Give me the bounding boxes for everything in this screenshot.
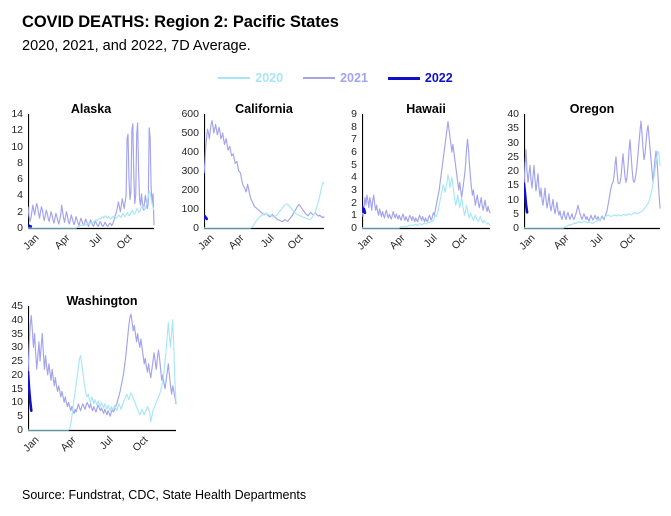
- y-tick-label: 20: [498, 165, 519, 177]
- legend-swatch-2021: [303, 77, 335, 79]
- x-tick-label: Jul: [74, 232, 104, 262]
- y-tick-label: 6: [340, 146, 357, 158]
- y-tick-label: 400: [172, 146, 199, 158]
- plot-area: [362, 114, 492, 230]
- page-subtitle: 2020, 2021, and 2022, 7D Average.: [22, 38, 251, 54]
- y-tick-label: 7: [340, 133, 357, 145]
- y-tick-label: 5: [498, 208, 519, 220]
- y-tick-label: 200: [172, 184, 199, 196]
- x-tick-label: Apr: [43, 232, 73, 262]
- x-tick-label: Jul: [576, 232, 606, 262]
- chart-page: COVID DEATHS: Region 2: Pacific States 2…: [0, 0, 671, 516]
- y-tick-label: 0: [340, 222, 357, 234]
- y-tick-label: 500: [172, 127, 199, 139]
- y-tick-label: 4: [2, 189, 23, 201]
- y-tick-label: 0: [2, 424, 23, 436]
- series-line-2022: [204, 216, 207, 219]
- y-tick-label: 35: [2, 328, 23, 340]
- series-line-2021: [28, 123, 154, 226]
- x-tick-label: Jan: [187, 232, 217, 262]
- y-tick-label: 600: [172, 108, 199, 120]
- y-tick-label: 4: [340, 171, 357, 183]
- x-tick-label: Apr: [49, 434, 79, 464]
- y-tick-label: 30: [2, 341, 23, 353]
- y-tick-label: 3: [340, 184, 357, 196]
- y-tick-label: 10: [2, 141, 23, 153]
- x-tick-label: Apr: [377, 232, 407, 262]
- legend-swatch-2022: [388, 77, 420, 80]
- y-tick-label: 45: [2, 300, 23, 312]
- y-tick-label: 14: [2, 108, 23, 120]
- x-tick-label: Oct: [608, 232, 638, 262]
- y-tick-label: 0: [498, 222, 519, 234]
- x-tick-label: Apr: [217, 232, 247, 262]
- y-tick-label: 20: [2, 369, 23, 381]
- y-tick-label: 1: [340, 209, 357, 221]
- y-tick-label: 10: [2, 396, 23, 408]
- chart-panel-california: California0100200300400500600JanAprJulOc…: [172, 100, 332, 250]
- y-tick-label: 8: [340, 121, 357, 133]
- y-tick-label: 300: [172, 165, 199, 177]
- y-tick-label: 15: [2, 383, 23, 395]
- plot-area: [28, 114, 156, 230]
- y-tick-label: 25: [2, 355, 23, 367]
- x-tick-label: Oct: [105, 232, 135, 262]
- x-tick-label: Oct: [121, 434, 151, 464]
- y-tick-label: 10: [498, 194, 519, 206]
- legend: 202020212022: [0, 72, 671, 85]
- legend-item-2021: 2021: [303, 72, 368, 85]
- y-tick-label: 30: [498, 137, 519, 149]
- y-tick-label: 15: [498, 179, 519, 191]
- x-tick-label: Jan: [12, 434, 42, 464]
- x-tick-label: Oct: [440, 232, 470, 262]
- plot-area: [28, 306, 178, 432]
- y-tick-label: 6: [2, 173, 23, 185]
- series-line-2022: [28, 226, 31, 227]
- y-tick-label: 100: [172, 203, 199, 215]
- y-tick-label: 35: [498, 122, 519, 134]
- x-tick-label: Jul: [86, 434, 116, 464]
- chart-panel-oregon: Oregon0510152025303540JanAprJulOct: [498, 100, 668, 250]
- y-tick-label: 9: [340, 108, 357, 120]
- series-line-2021: [362, 122, 490, 222]
- y-tick-label: 2: [340, 197, 357, 209]
- legend-label-2022: 2022: [425, 72, 453, 85]
- y-tick-label: 5: [2, 410, 23, 422]
- legend-label-2021: 2021: [340, 72, 368, 85]
- chart-panel-washington: Washington051015202530354045JanAprJulOct: [2, 292, 184, 452]
- legend-label-2020: 2020: [255, 72, 283, 85]
- y-tick-label: 2: [2, 206, 23, 218]
- y-tick-label: 8: [2, 157, 23, 169]
- x-tick-label: Jan: [11, 232, 41, 262]
- series-line-2021: [28, 314, 176, 416]
- series-line-2021: [524, 121, 660, 221]
- source-note: Source: Fundstrat, CDC, State Health Dep…: [22, 488, 306, 502]
- x-tick-label: Jul: [247, 232, 277, 262]
- y-tick-label: 0: [172, 222, 199, 234]
- legend-swatch-2020: [218, 77, 250, 79]
- x-tick-label: Jul: [409, 232, 439, 262]
- chart-panel-hawaii: Hawaii0123456789JanAprJulOct: [340, 100, 498, 250]
- y-tick-label: 40: [498, 108, 519, 120]
- plot-area: [204, 114, 326, 230]
- x-tick-label: Jan: [508, 232, 538, 262]
- series-line-2021: [204, 121, 324, 222]
- legend-item-2022: 2022: [388, 72, 453, 85]
- plot-area: [524, 114, 662, 230]
- chart-panel-alaska: Alaska02468101214JanAprJulOct: [2, 100, 162, 250]
- legend-item-2020: 2020: [218, 72, 283, 85]
- series-line-2020: [204, 182, 324, 228]
- x-tick-label: Jan: [345, 232, 375, 262]
- y-tick-label: 5: [340, 159, 357, 171]
- page-title: COVID DEATHS: Region 2: Pacific States: [22, 13, 339, 32]
- y-tick-label: 25: [498, 151, 519, 163]
- x-tick-label: Oct: [276, 232, 306, 262]
- y-tick-label: 0: [2, 222, 23, 234]
- x-tick-label: Apr: [542, 232, 572, 262]
- y-tick-label: 12: [2, 124, 23, 136]
- y-tick-label: 40: [2, 314, 23, 326]
